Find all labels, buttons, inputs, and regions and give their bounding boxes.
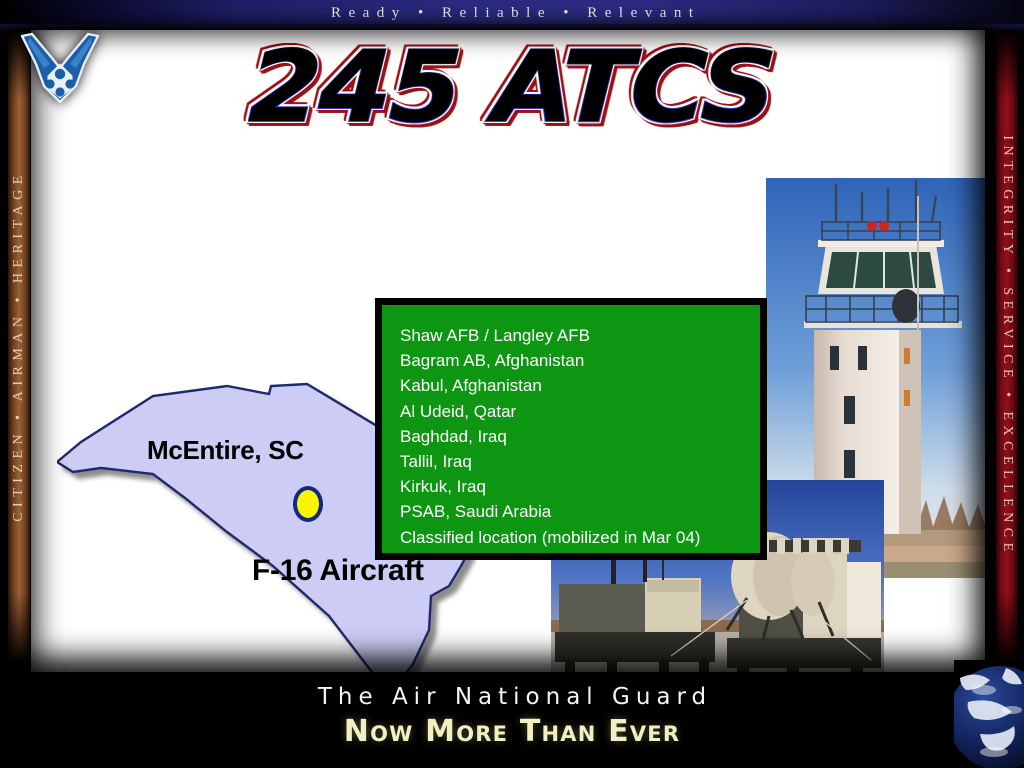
mcentire-location-marker <box>293 486 323 522</box>
deployment-location: Baghdad, Iraq <box>400 424 760 449</box>
footer-line-tagline: Now More Than Ever <box>0 714 1024 749</box>
earth-globe-image <box>954 660 1024 768</box>
sidebar-right-label: INTEGRITY • SERVICE • EXCELLENCE <box>999 135 1015 556</box>
deployment-location: Classified location (mobilized in Mar 04… <box>400 525 760 550</box>
sidebar-right-core-values: INTEGRITY • SERVICE • EXCELLENCE <box>996 30 1018 662</box>
sidebar-left-fade-bottom <box>8 592 30 662</box>
deployment-location: Al Udeid, Qatar <box>400 399 760 424</box>
deployment-locations-box: Shaw AFB / Langley AFB Bagram AB, Afghan… <box>375 298 767 560</box>
deployment-location: Kirkuk, Iraq <box>400 474 760 499</box>
deployment-location: Kabul, Afghanistan <box>400 373 760 398</box>
footer: The Air National Guard Now More Than Eve… <box>0 676 1024 768</box>
deployment-location: Shaw AFB / Langley AFB <box>400 323 760 348</box>
content-panel: McEntire, SC F-16 Aircraft <box>31 30 985 672</box>
sidebar-right-fade-top <box>996 30 1018 100</box>
slide-canvas: Ready • Reliable • Relevant McEntire, SC… <box>0 0 1024 768</box>
sidebar-left-heritage: CITIZEN • AIRMAN • HERITAGE <box>8 30 30 662</box>
map-label-aircraft: F-16 Aircraft <box>252 554 424 588</box>
deployment-location: Tallil, Iraq <box>400 449 760 474</box>
footer-line-organization: The Air National Guard <box>0 684 1024 710</box>
map-label-mcentire: McEntire, SC <box>147 435 304 466</box>
deployment-location: PSAB, Saudi Arabia <box>400 499 760 524</box>
usaf-wings-logo <box>14 24 106 108</box>
deployment-location: Bagram AB, Afghanistan <box>400 348 760 373</box>
sidebar-right-fade-bottom <box>996 592 1018 662</box>
sidebar-left-label: CITIZEN • AIRMAN • HERITAGE <box>11 170 27 522</box>
